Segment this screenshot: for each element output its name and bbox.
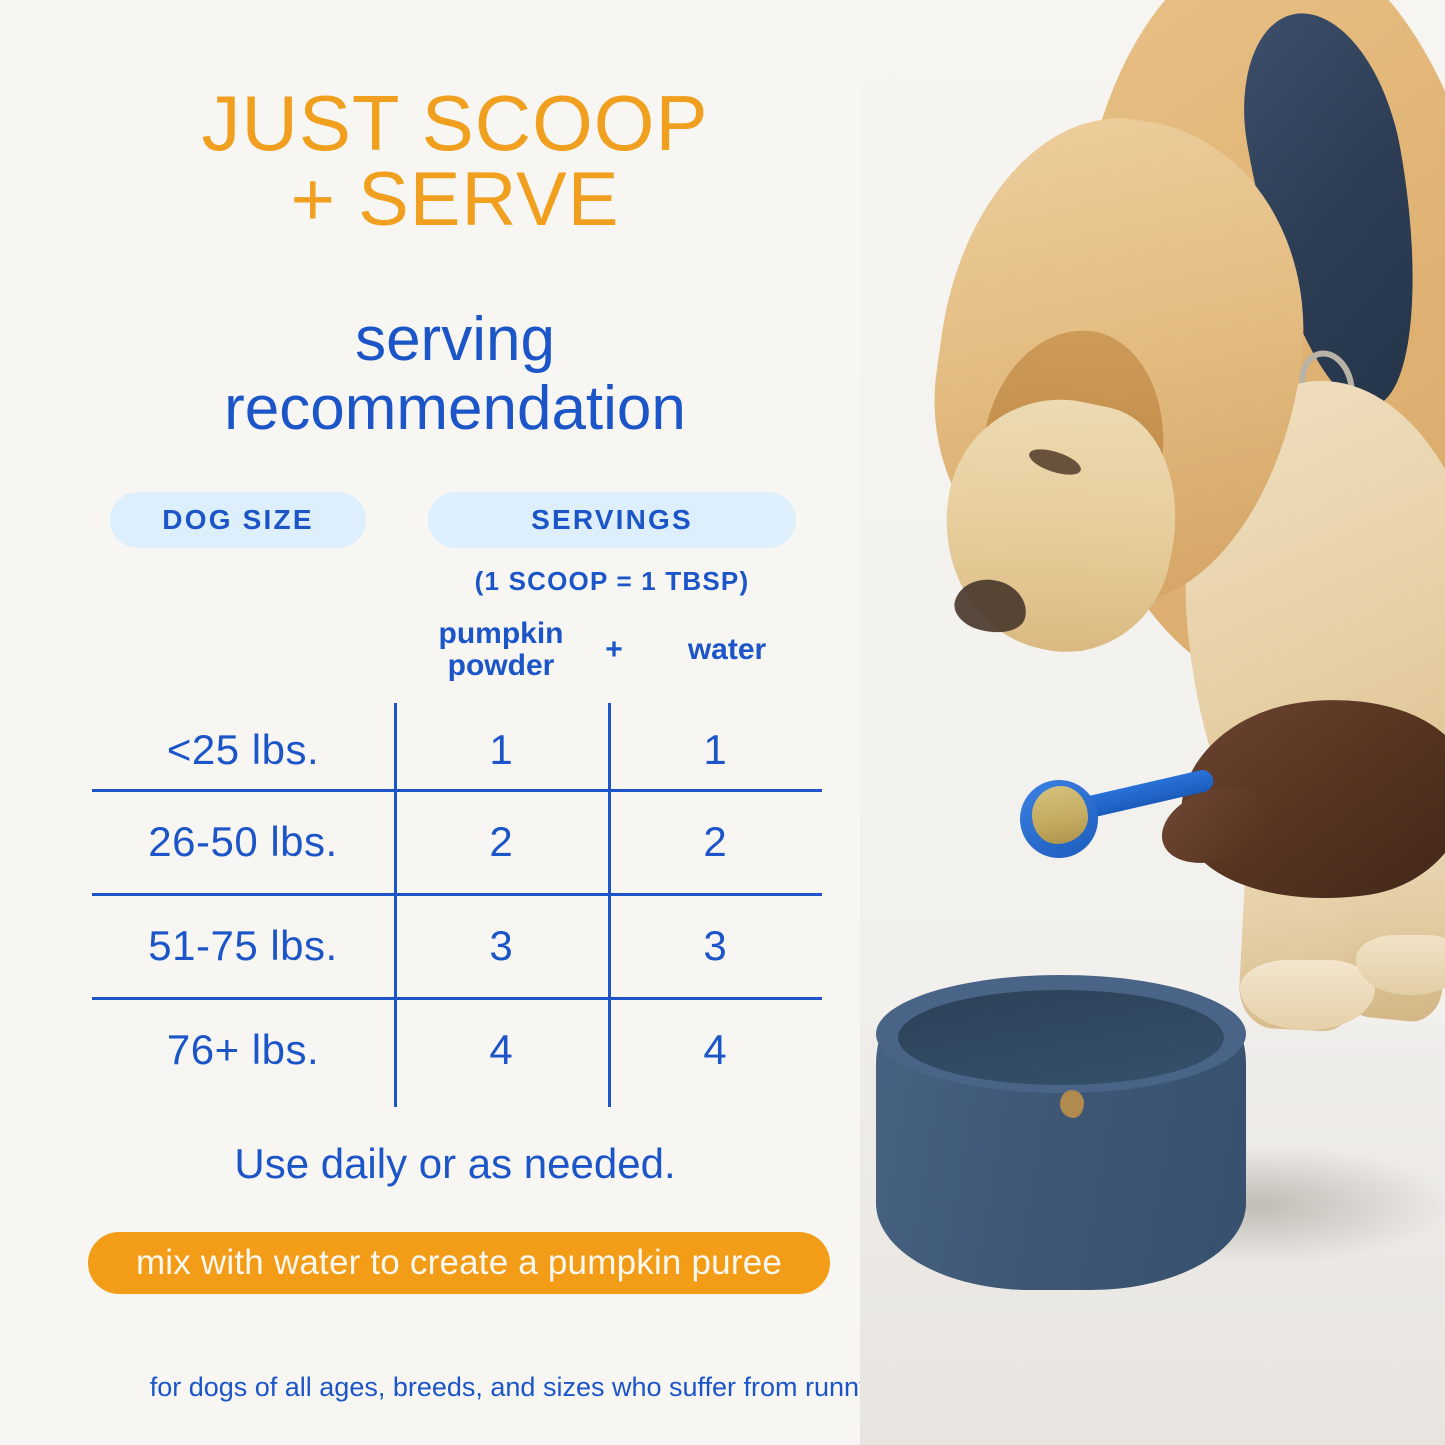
cell-pumpkin-powder: 2 (394, 818, 608, 866)
cell-pumpkin-powder: 3 (394, 922, 608, 970)
cell-water: 3 (608, 922, 822, 970)
cell-water: 4 (608, 1026, 822, 1074)
serving-column-labels: pumpkin powder + water (394, 618, 820, 682)
use-daily-text: Use daily or as needed. (60, 1140, 850, 1188)
pill-dog-size-label: DOG SIZE (162, 504, 313, 536)
cell-dog-size: <25 lbs. (92, 726, 394, 774)
column-label-water: water (634, 634, 820, 666)
cell-dog-size: 76+ lbs. (92, 1026, 394, 1074)
page-headline: JUST SCOOP + SERVE (60, 85, 850, 237)
product-serving-infographic: JUST SCOOP + SERVE serving recommendatio… (0, 0, 1445, 1445)
pill-servings: SERVINGS (428, 492, 796, 548)
pill-servings-label: SERVINGS (531, 504, 693, 536)
pill-dog-size: DOG SIZE (110, 492, 366, 548)
subheading-line-2: recommendation (60, 374, 850, 443)
mix-instruction-banner: mix with water to create a pumpkin puree (88, 1232, 830, 1294)
table-row: <25 lbs. 1 1 (92, 700, 822, 800)
table-row: 51-75 lbs. 3 3 (92, 896, 822, 996)
cell-pumpkin-powder: 1 (394, 726, 608, 774)
table-row: 26-50 lbs. 2 2 (92, 792, 822, 892)
cell-water: 2 (608, 818, 822, 866)
page-subheading: serving recommendation (60, 305, 850, 444)
column-label-pumpkin-powder-line-1: pumpkin (439, 617, 564, 650)
headline-line-1: JUST SCOOP (60, 85, 850, 162)
cell-water: 1 (608, 726, 822, 774)
content-panel: JUST SCOOP + SERVE serving recommendatio… (0, 0, 880, 1445)
cell-dog-size: 51-75 lbs. (92, 922, 394, 970)
mix-instruction-banner-label: mix with water to create a pumpkin puree (136, 1243, 782, 1283)
serving-table: <25 lbs. 1 1 26-50 lbs. 2 2 51-75 lbs. 3… (92, 700, 822, 1110)
headline-line-2: + SERVE (60, 162, 850, 237)
scoop-equivalence-note: (1 SCOOP = 1 TBSP) (428, 566, 796, 597)
column-label-pumpkin-powder-line-2: powder (448, 649, 555, 682)
subheading-line-1: serving (60, 305, 850, 374)
dog-bowl-interior (898, 990, 1224, 1085)
cell-pumpkin-powder: 4 (394, 1026, 608, 1074)
table-row: 76+ lbs. 4 4 (92, 1000, 822, 1100)
pumpkin-powder-in-scoop (1032, 786, 1088, 844)
product-photo (860, 0, 1445, 1445)
column-label-pumpkin-powder: pumpkin powder (394, 618, 608, 681)
kibble-piece (1060, 1090, 1084, 1118)
cell-dog-size: 26-50 lbs. (92, 818, 394, 866)
